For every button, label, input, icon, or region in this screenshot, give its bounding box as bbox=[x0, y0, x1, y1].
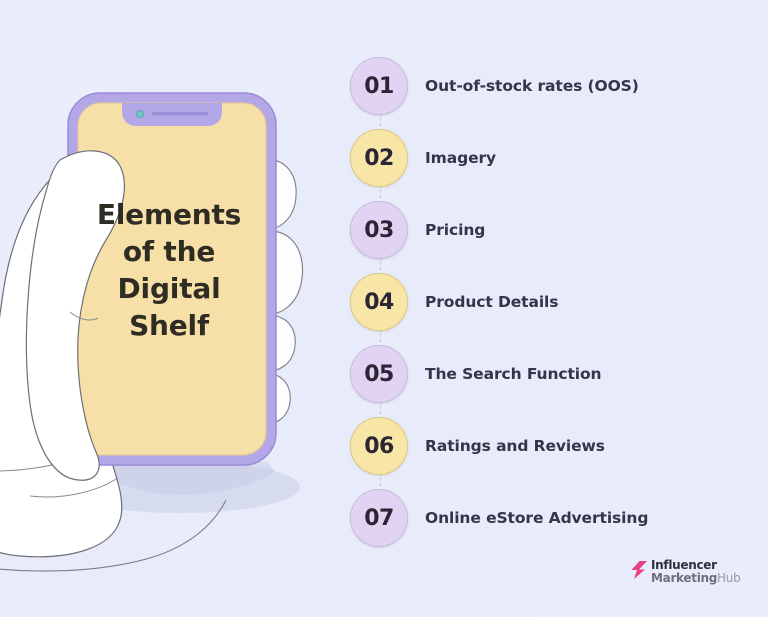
list-item[interactable]: 01 Out-of-stock rates (OOS) bbox=[350, 50, 760, 122]
infographic-canvas: Elements of the Digital Shelf 01 Out-of-… bbox=[0, 0, 768, 617]
step-label: Online eStore Advertising bbox=[425, 509, 648, 527]
step-badge: 03 bbox=[350, 201, 408, 259]
list-item[interactable]: 06 Ratings and Reviews bbox=[350, 410, 760, 482]
step-label: Out-of-stock rates (OOS) bbox=[425, 77, 639, 95]
elements-list: 01 Out-of-stock rates (OOS) 02 Imagery 0… bbox=[350, 50, 760, 554]
list-item[interactable]: 05 The Search Function bbox=[350, 338, 760, 410]
step-label: The Search Function bbox=[425, 365, 602, 383]
step-number: 03 bbox=[364, 218, 394, 243]
step-badge: 04 bbox=[350, 273, 408, 331]
step-number: 04 bbox=[364, 290, 394, 315]
step-badge: 02 bbox=[350, 129, 408, 187]
camera-dot-icon bbox=[137, 111, 144, 118]
step-number: 01 bbox=[364, 74, 394, 99]
logo-word-hub: Hub bbox=[717, 571, 740, 585]
phone-speaker bbox=[152, 112, 208, 115]
step-label: Imagery bbox=[425, 149, 496, 167]
logo-line-influencer: Influencer bbox=[651, 559, 740, 572]
step-badge: 07 bbox=[350, 489, 408, 547]
step-label: Pricing bbox=[425, 221, 485, 239]
phone-screen-title: Elements of the Digital Shelf bbox=[84, 196, 254, 344]
list-item[interactable]: 04 Product Details bbox=[350, 266, 760, 338]
pink-arrow-mark-icon bbox=[630, 560, 648, 585]
step-number: 05 bbox=[364, 362, 394, 387]
step-number: 06 bbox=[364, 434, 394, 459]
step-badge: 05 bbox=[350, 345, 408, 403]
list-item[interactable]: 07 Online eStore Advertising bbox=[350, 482, 760, 554]
logo-line-marketinghub: MarketingHub bbox=[651, 571, 740, 585]
list-item[interactable]: 02 Imagery bbox=[350, 122, 760, 194]
influencer-marketing-hub-logo[interactable]: Influencer MarketingHub bbox=[630, 558, 740, 585]
step-badge: 06 bbox=[350, 417, 408, 475]
step-number: 07 bbox=[364, 506, 394, 531]
step-number: 02 bbox=[364, 146, 394, 171]
step-badge: 01 bbox=[350, 57, 408, 115]
step-label: Ratings and Reviews bbox=[425, 437, 605, 455]
list-item[interactable]: 03 Pricing bbox=[350, 194, 760, 266]
logo-word-marketing: Marketing bbox=[651, 571, 717, 585]
logo-wordmark: Influencer MarketingHub bbox=[651, 559, 740, 585]
step-label: Product Details bbox=[425, 293, 558, 311]
